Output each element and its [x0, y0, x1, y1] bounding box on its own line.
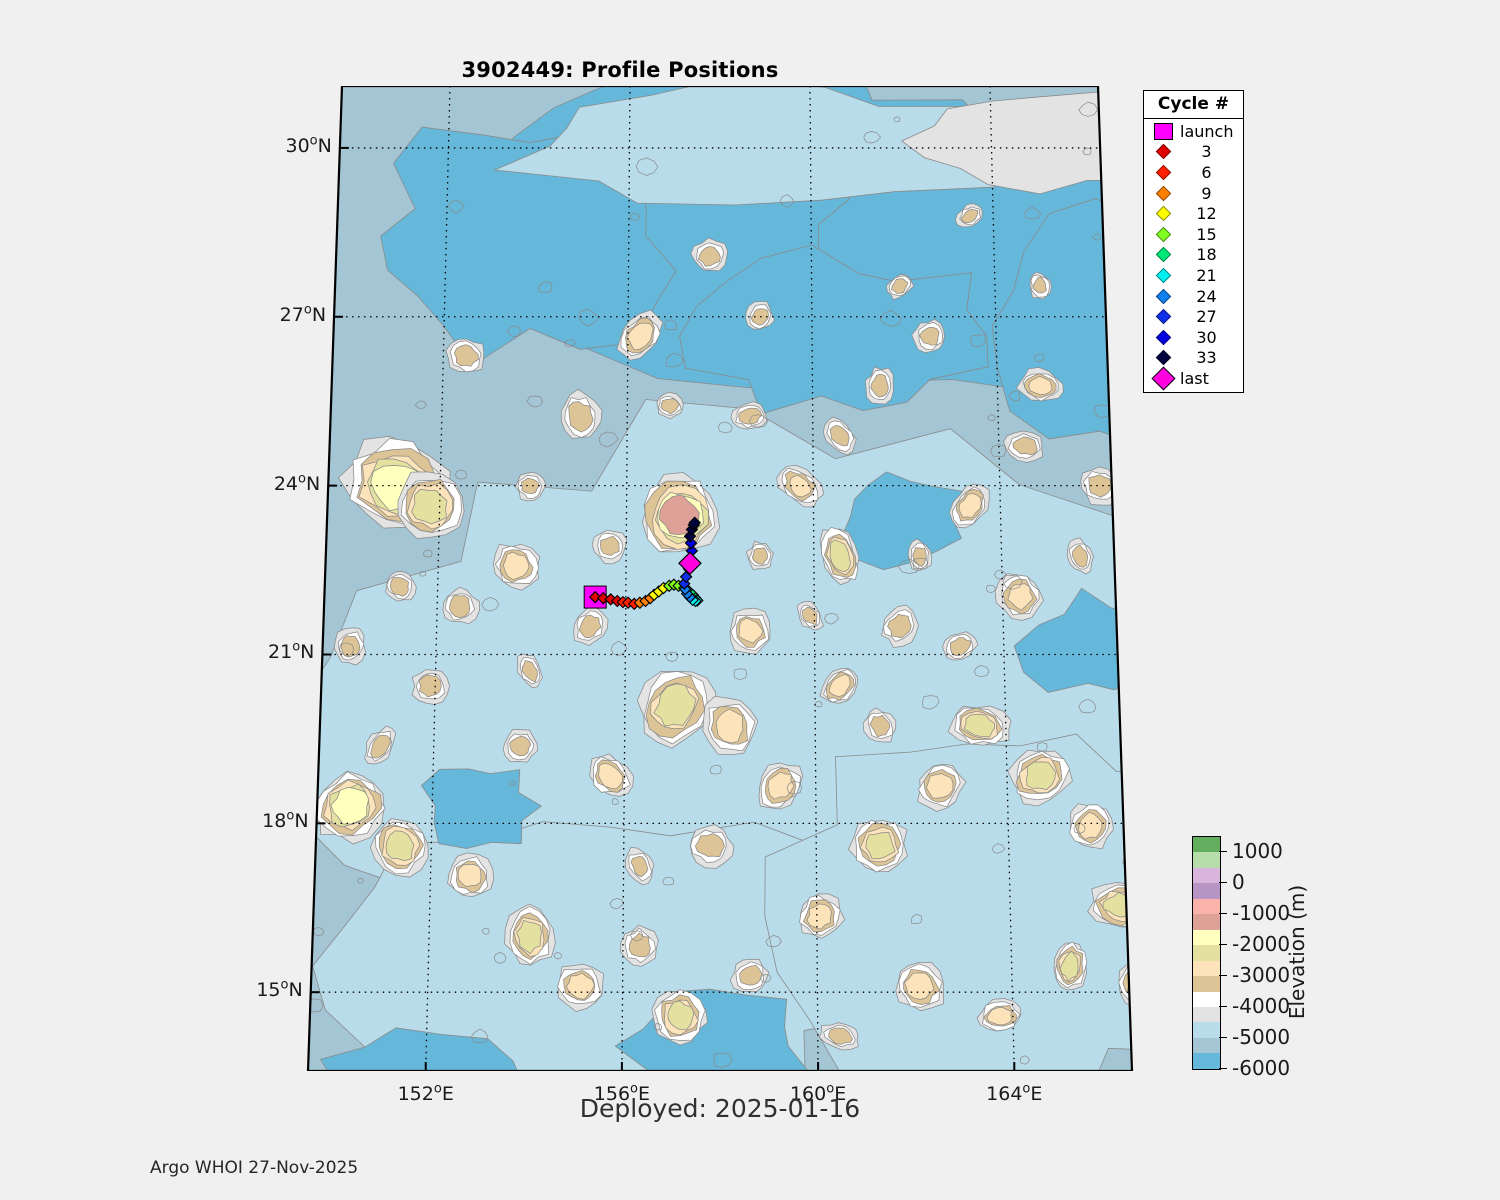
- legend-item: last: [1144, 368, 1243, 389]
- legend-item: 21: [1144, 265, 1243, 286]
- legend-label: 9: [1174, 184, 1243, 203]
- colorbar-tick-label: -4000: [1232, 994, 1290, 1018]
- legend-symbol-diamond: [1152, 291, 1174, 302]
- colorbar-band: [1193, 1038, 1220, 1053]
- colorbar-band: [1193, 1022, 1220, 1037]
- legend-label: launch: [1174, 122, 1243, 141]
- colorbar-band: [1193, 945, 1220, 960]
- legend-item: 27: [1144, 306, 1243, 327]
- legend-symbol-diamond: [1152, 146, 1174, 157]
- legend-item: 12: [1144, 203, 1243, 224]
- colorbar-band: [1193, 1007, 1220, 1022]
- colorbar-band: [1193, 837, 1220, 852]
- colorbar-band: [1193, 868, 1220, 883]
- legend-item: 6: [1144, 162, 1243, 183]
- legend-item: 9: [1144, 183, 1243, 204]
- cycle-legend: Cycle # launch3691215182124273033last: [1143, 90, 1244, 393]
- legend-item: 15: [1144, 224, 1243, 245]
- legend-item: 24: [1144, 286, 1243, 307]
- legend-symbol-diamond: [1152, 352, 1174, 363]
- colorbar-band: [1193, 961, 1220, 976]
- legend-symbol-diamond: [1152, 311, 1174, 322]
- map-panel: [280, 86, 1160, 1071]
- legend-label: 3: [1174, 142, 1243, 161]
- colorbar-tick-label: -2000: [1232, 932, 1290, 956]
- deployed-label: Deployed: 2025-01-16: [280, 1094, 1160, 1123]
- elevation-colorbar: [1192, 836, 1221, 1070]
- legend-symbol-diamond: [1152, 208, 1174, 219]
- page-title: 3902449: Profile Positions: [0, 58, 1240, 82]
- legend-item: launch: [1144, 121, 1243, 142]
- legend-label: 30: [1174, 328, 1243, 347]
- legend-symbol-diamond: [1152, 249, 1174, 260]
- colorbar-ticks: [1219, 836, 1233, 1068]
- colorbar-band: [1193, 883, 1220, 898]
- colorbar-tick: [1219, 1006, 1227, 1007]
- colorbar-tick-label: -5000: [1232, 1025, 1290, 1049]
- colorbar-tick: [1219, 1037, 1227, 1038]
- legend-label: 15: [1174, 225, 1243, 244]
- colorbar-tick-label: -1000: [1232, 901, 1290, 925]
- lat-tick-label: 27oN: [242, 304, 326, 326]
- legend-symbol-diamond: [1152, 270, 1174, 281]
- legend-symbol-diamond-large: [1152, 370, 1174, 387]
- colorbar-tick: [1219, 851, 1227, 852]
- colorbar-tick-label: -3000: [1232, 963, 1290, 987]
- legend-title: Cycle #: [1144, 91, 1243, 119]
- lat-tick-label: 21oN: [230, 641, 314, 663]
- lat-tick-label: 15oN: [219, 979, 303, 1001]
- legend-item: 18: [1144, 245, 1243, 266]
- colorbar-band: [1193, 914, 1220, 929]
- colorbar-tick: [1219, 913, 1227, 914]
- legend-symbol-diamond: [1152, 188, 1174, 199]
- colorbar-band: [1193, 930, 1220, 945]
- legend-symbol-diamond: [1152, 332, 1174, 343]
- colorbar-tick: [1219, 882, 1227, 883]
- colorbar-band: [1193, 992, 1220, 1007]
- legend-item: 30: [1144, 327, 1243, 348]
- legend-symbol-diamond: [1152, 229, 1174, 240]
- colorbar-title: Elevation (m): [1285, 885, 1309, 1019]
- colorbar-band: [1193, 976, 1220, 991]
- legend-entries: launch3691215182124273033last: [1144, 119, 1243, 392]
- legend-label: 33: [1174, 348, 1243, 367]
- colorbar-band: [1193, 1053, 1220, 1068]
- colorbar-band: [1193, 852, 1220, 867]
- legend-label: 12: [1174, 204, 1243, 223]
- colorbar-band: [1193, 899, 1220, 914]
- lat-tick-label: 30oN: [248, 135, 332, 157]
- bathymetry-map[interactable]: [280, 86, 1160, 1071]
- lat-tick-label: 24oN: [236, 473, 320, 495]
- legend-label: 27: [1174, 307, 1243, 326]
- legend-label: 24: [1174, 287, 1243, 306]
- colorbar-tick-label: -6000: [1232, 1056, 1290, 1080]
- legend-label: 21: [1174, 266, 1243, 285]
- colorbar-tick-label: 1000: [1232, 839, 1283, 863]
- legend-label: 18: [1174, 245, 1243, 264]
- legend-symbol-square: [1152, 123, 1174, 140]
- legend-symbol-diamond: [1152, 167, 1174, 178]
- credit-label: Argo WHOI 27-Nov-2025: [150, 1158, 358, 1178]
- figure-canvas: 3902449: Profile Positions 30oN27oN24oN2…: [0, 0, 1500, 1200]
- colorbar-tick: [1219, 975, 1227, 976]
- colorbar-tick: [1219, 1068, 1227, 1069]
- colorbar-tick: [1219, 944, 1227, 945]
- colorbar-tick-label: 0: [1232, 870, 1245, 894]
- legend-label: 6: [1174, 163, 1243, 182]
- lat-tick-label: 18oN: [225, 810, 309, 832]
- legend-label: last: [1174, 369, 1243, 388]
- legend-item: 33: [1144, 348, 1243, 369]
- legend-item: 3: [1144, 142, 1243, 163]
